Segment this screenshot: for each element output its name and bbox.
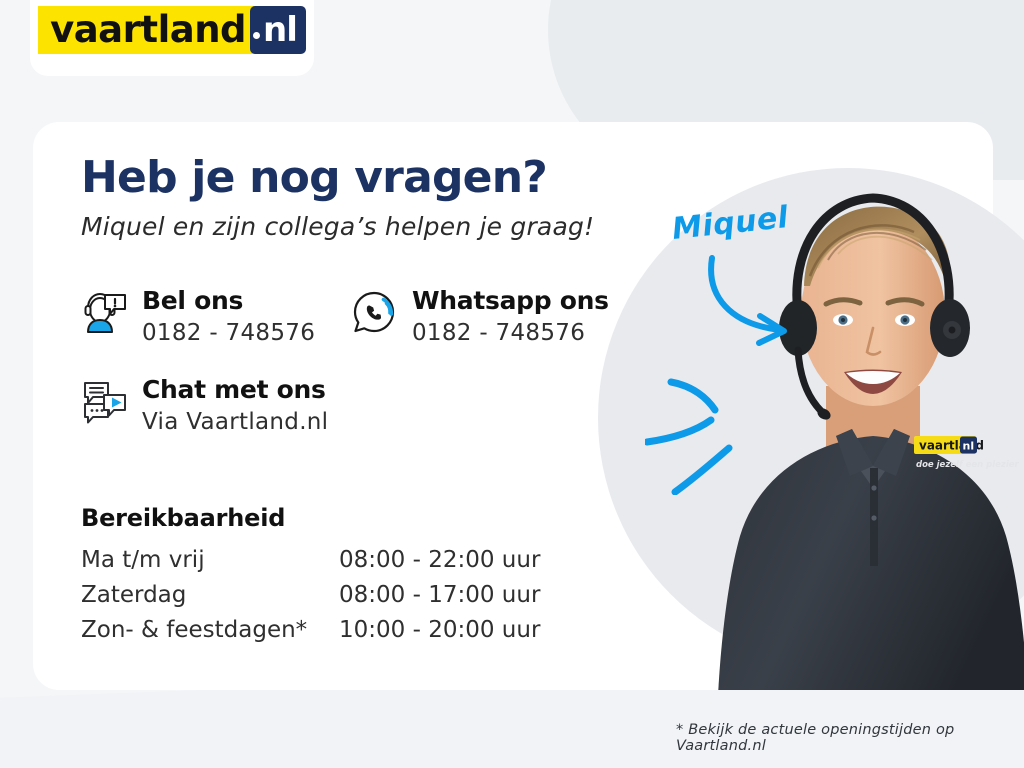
contact-text-phone: Bel ons 0182 - 748576 [142,286,315,350]
logo-dot-icon [253,32,260,39]
logo-tld-box: nl [250,6,306,54]
contact-text-whatsapp: Whatsapp ons 0182 - 748576 [412,286,609,350]
headset-person-icon [80,288,128,336]
brand-logo-panel[interactable]: vaartland nl [30,0,314,76]
opening-hours-title: Bereikbaarheid [81,504,285,532]
contact-block-phone[interactable]: Bel ons 0182 - 748576 [80,286,315,350]
hours-day: Ma t/m vrij [81,548,339,583]
hours-time: 08:00 - 22:00 uur [339,548,540,583]
curved-arrow-icon [700,250,810,360]
table-row: Ma t/m vrij 08:00 - 22:00 uur [81,548,540,583]
motion-dashes-icon [645,360,775,495]
contact-block-whatsapp[interactable]: Whatsapp ons 0182 - 748576 [350,286,609,350]
table-row: Zaterdag 08:00 - 17:00 uur [81,583,540,618]
table-row: Zon- & feestdagen* 10:00 - 20:00 uur [81,618,540,653]
logo-wordmark: vaartland [38,6,256,54]
opening-hours-table: Ma t/m vrij 08:00 - 22:00 uur Zaterdag 0… [81,548,540,653]
svg-text:doe jezelf een plezier: doe jezelf een plezier [916,460,1020,470]
contact-block-chat[interactable]: Chat met ons Via Vaartland.nl [80,375,328,439]
svg-text:nl: nl [963,440,975,453]
contact-value-whatsapp[interactable]: 0182 - 748576 [412,316,609,350]
contact-title-chat: Chat met ons [142,375,328,405]
hours-time: 08:00 - 17:00 uur [339,583,540,618]
hours-day: Zon- & feestdagen* [81,618,339,653]
contact-title-whatsapp: Whatsapp ons [412,286,609,316]
vaartland-logo[interactable]: vaartland nl [38,6,306,54]
whatsapp-icon [350,288,398,336]
page-subtitle: Miquel en zijn collega’s helpen je graag… [81,212,594,241]
chat-bubbles-icon [80,377,128,425]
contact-value-chat[interactable]: Via Vaartland.nl [142,405,328,439]
contact-title-phone: Bel ons [142,286,315,316]
hours-day: Zaterdag [81,583,339,618]
contact-value-phone[interactable]: 0182 - 748576 [142,316,315,350]
logo-tld-text: nl [263,8,297,52]
page-title: Heb je nog vragen? [81,152,547,203]
footnote-text: * Bekijk de actuele openingstijden op Va… [676,722,1024,754]
contact-text-chat: Chat met ons Via Vaartland.nl [142,375,328,439]
hours-time: 10:00 - 20:00 uur [339,618,540,653]
